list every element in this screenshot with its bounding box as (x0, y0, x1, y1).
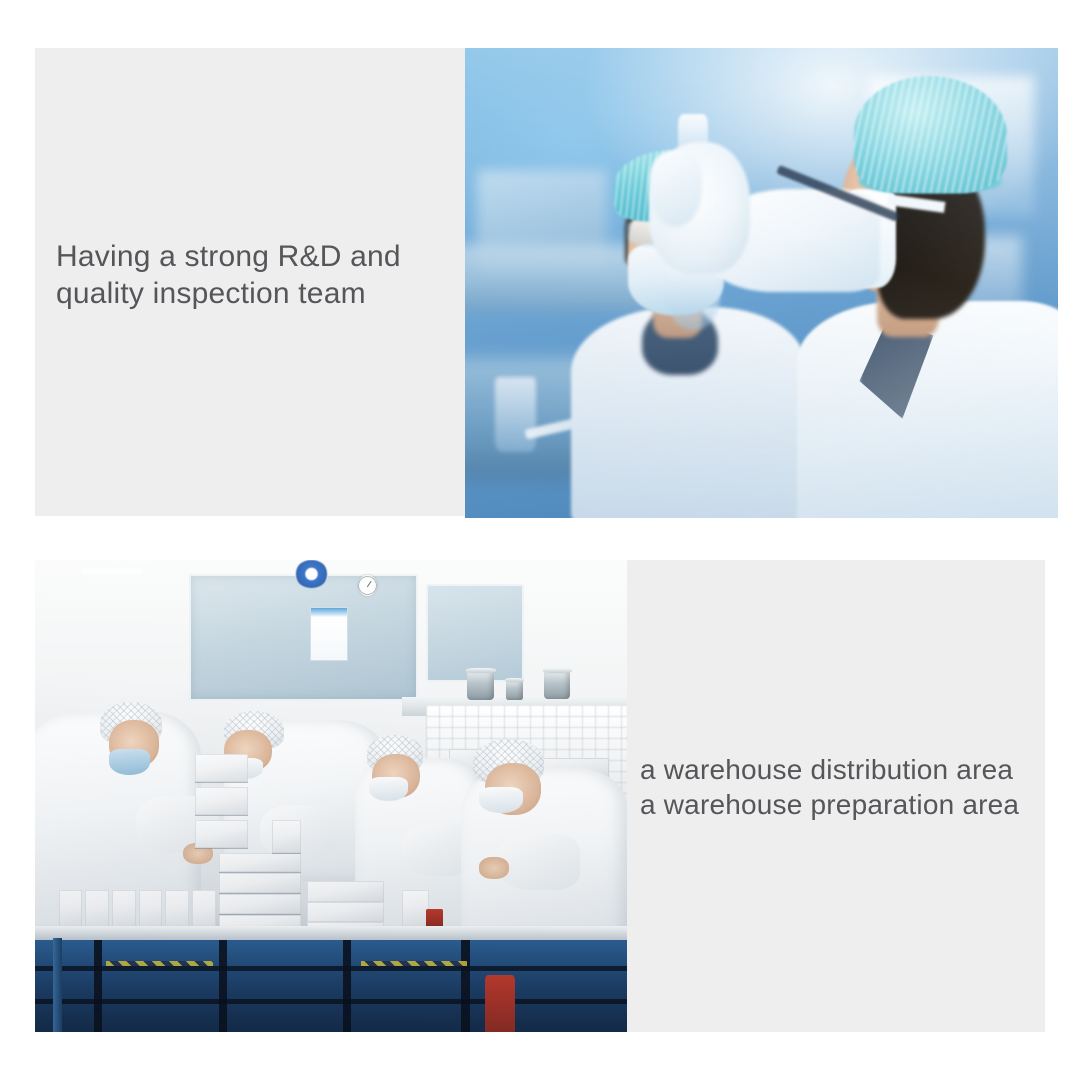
top-caption: Having a strong R&D andquality inspectio… (56, 238, 401, 312)
warehouse-light-shading (35, 560, 627, 1032)
top-caption-line-2: quality inspection team (56, 277, 366, 310)
warehouse-packing-photo (35, 560, 627, 1032)
top-caption-line-1: Having a strong R&D and (56, 240, 401, 273)
bottom-caption: a warehouse distribution areaa warehouse… (640, 752, 1019, 822)
bottom-caption-line-1: a warehouse distribution area (640, 754, 1013, 785)
lab-quality-inspection-photo (465, 48, 1058, 518)
bottom-caption-line-2: a warehouse preparation area (640, 789, 1019, 820)
lab-light-haze (465, 48, 1058, 518)
